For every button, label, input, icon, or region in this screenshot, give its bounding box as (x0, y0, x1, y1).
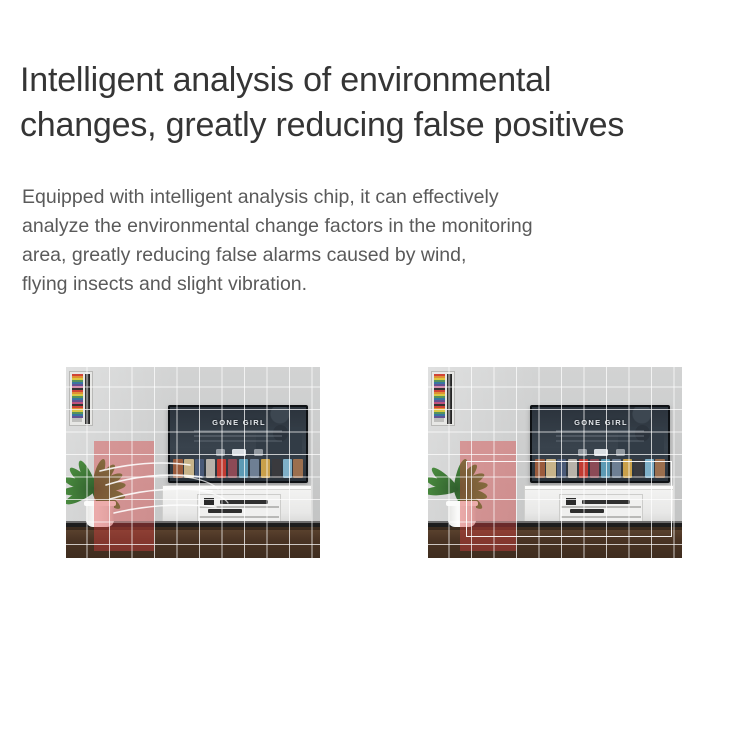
body-line-2: analyze the environmental change factors… (22, 212, 722, 241)
detection-grid-icon (428, 367, 682, 558)
page-title-line-1: Intelligent analysis of environmental (20, 58, 736, 103)
figure-object-moved-alarm: GONE GIRL (428, 367, 682, 558)
figure-wind-no-alarm: GONE GIRL (66, 367, 320, 558)
page-title-line-2: changes, greatly reducing false positive… (20, 103, 736, 148)
body-line-3: area, greatly reducing false alarms caus… (22, 241, 722, 270)
body-line-4: flying insects and slight vibration. (22, 270, 722, 299)
photo-living-room-wind: GONE GIRL (66, 367, 320, 558)
photo-living-room-object-moved: GONE GIRL (428, 367, 682, 558)
body-paragraph: Equipped with intelligent analysis chip,… (22, 183, 722, 299)
feature-page: Intelligent analysis of environmental ch… (0, 0, 750, 750)
page-title: Intelligent analysis of environmental ch… (20, 58, 736, 148)
body-line-1: Equipped with intelligent analysis chip,… (22, 183, 722, 212)
detection-grid-icon (66, 367, 320, 558)
